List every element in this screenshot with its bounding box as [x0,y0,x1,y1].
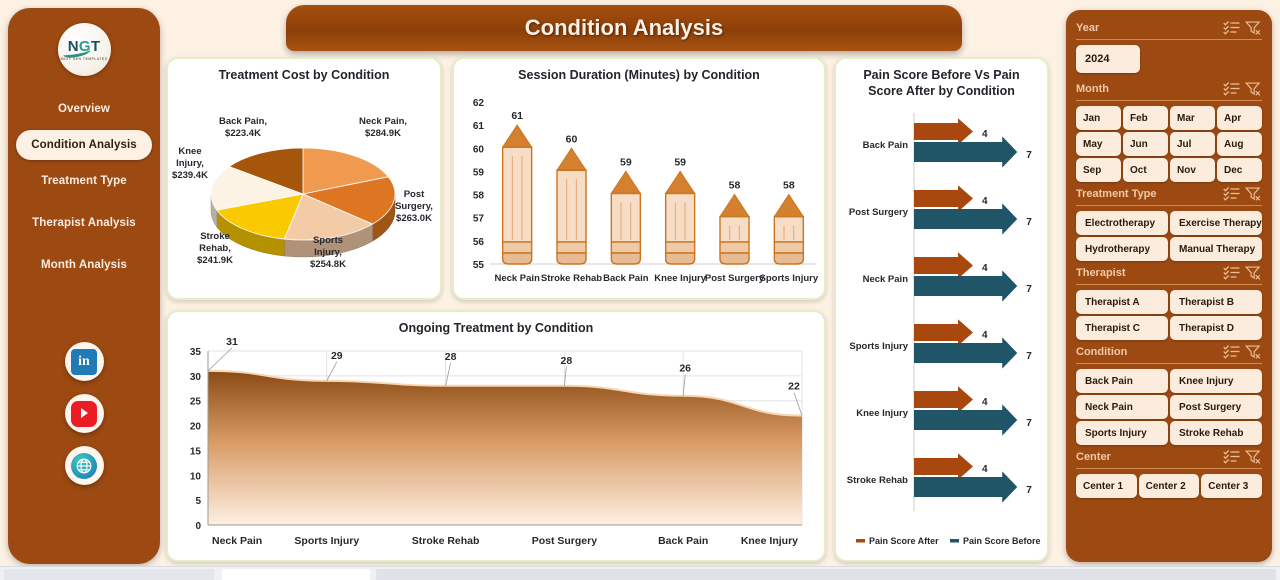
area-data-label: 28 [561,355,573,367]
filter-chip-jun[interactable]: Jun [1123,132,1168,156]
multi-select-icon[interactable] [1223,344,1241,359]
pencil-bar[interactable] [557,148,586,264]
taskbar-segment [4,569,214,580]
x-tick-label: Knee Injury [654,273,706,284]
session-duration-bar-chart: 555657585960616261Neck Pain60Stroke Reha… [454,82,824,298]
pencil-bar[interactable] [666,171,695,264]
youtube-link[interactable] [65,394,104,433]
clear-filter-icon[interactable] [1244,81,1262,96]
pie-data-label: Surgery, [395,201,433,212]
website-icon [71,453,97,479]
pain-before-value: 7 [1026,485,1032,496]
y-tick-label: 35 [190,347,202,358]
clear-filter-icon[interactable] [1244,20,1262,35]
treatment-cost-title: Treatment Cost by Condition [168,59,440,82]
filter-group-title: Month [1076,83,1220,95]
x-tick-label: Neck Pain [212,535,262,547]
filter-group-center: Center Center 1Center 2Center 3 [1076,447,1262,498]
y-tick-label: 10 [190,471,202,482]
legend-swatch [950,539,959,543]
pie-data-label: $254.8K [310,259,346,270]
pain-score-card: Pain Score Before Vs Pain Score After by… [834,57,1049,562]
pain-score-row [914,185,1017,234]
sidebar-item-label: Therapist Analysis [32,217,136,229]
pie-data-label: Injury, [314,247,342,258]
taskbar-segment [376,569,1276,580]
multi-select-icon[interactable] [1223,81,1241,96]
os-taskbar [0,566,1280,580]
category-label: Stroke Rehab [847,475,908,486]
pain-after-value: 4 [982,330,988,341]
linkedin-icon: in [71,349,97,375]
pain-score-row [914,118,1017,167]
chart-label: 57 [473,214,485,225]
bar-data-label: 60 [566,133,578,145]
pain-before-arrow[interactable] [914,472,1017,503]
divider [1076,468,1262,469]
filter-chip-sports-injury[interactable]: Sports Injury [1076,421,1168,445]
pie-data-label: $239.4K [172,170,208,181]
divider [1076,205,1262,206]
pie-data-label: $263.0K [396,213,432,224]
x-tick-label: Back Pain [658,535,708,547]
sidebar-item-condition-analysis[interactable]: Condition Analysis [16,130,152,160]
filter-group-therapist: Therapist Therapist ATherapist BTherapis… [1076,263,1262,340]
pencil-bar[interactable] [503,125,532,264]
divider [1076,100,1262,101]
y-tick-label: 15 [190,446,202,457]
filter-group-header: Month [1076,79,1262,98]
category-label: Back Pain [863,140,909,151]
pain-score-row [914,386,1017,435]
pie-data-label: Neck Pain, [359,116,407,127]
filter-chip-therapist-d[interactable]: Therapist D [1170,316,1262,340]
multi-select-icon[interactable] [1223,265,1241,280]
filter-group-header: Condition [1076,342,1262,361]
pain-after-arrow[interactable] [914,386,973,413]
ongoing-treatment-card: Ongoing Treatment by Condition 051015202… [166,310,826,562]
filter-group-condition: Condition Back PainKnee InjuryNeck PainP… [1076,342,1262,445]
filter-group-title: Center [1076,451,1220,463]
filter-group-header: Treatment Type [1076,184,1262,203]
pencil-bar[interactable] [720,195,749,264]
sidebar-item-treatment-type[interactable]: Treatment Type [8,160,160,202]
filter-group-treatment-type: Treatment Type ElectrotherapyExercise Th… [1076,184,1262,261]
y-tick-label: 25 [190,397,202,408]
filter-chip-sep[interactable]: Sep [1076,158,1121,182]
linkedin-link[interactable]: in [65,342,104,381]
chart-label: 61 [473,121,485,132]
pain-before-value: 7 [1026,217,1032,228]
pain-before-value: 7 [1026,150,1032,161]
pain-after-arrow[interactable] [914,118,973,145]
area-data-label: 29 [331,350,343,362]
filter-chip-nov[interactable]: Nov [1170,158,1215,182]
filter-chip-center-2[interactable]: Center 2 [1139,474,1200,498]
x-tick-label: Sports Injury [294,535,359,547]
filter-chip-jul[interactable]: Jul [1170,132,1215,156]
page-title: Condition Analysis [525,15,723,41]
y-tick-label: 30 [190,372,202,383]
filter-group-title: Condition [1076,346,1220,358]
pain-after-arrow[interactable] [914,185,973,212]
filter-chip-stroke-rehab[interactable]: Stroke Rehab [1170,421,1262,445]
filter-chip-therapist-a[interactable]: Therapist A [1076,290,1168,314]
legend-label: Pain Score Before [963,536,1041,546]
filter-chip-exercise-therapy[interactable]: Exercise Therapy [1170,211,1262,235]
divider [1076,363,1262,364]
bar-data-label: 59 [620,156,632,168]
leader-line [446,363,451,386]
filter-chip-oct[interactable]: Oct [1123,158,1168,182]
x-tick-label: Back Pain [603,273,649,284]
youtube-icon [71,401,97,427]
pain-before-value: 7 [1026,284,1032,295]
pie-data-label: Post [404,189,425,200]
bar-data-label: 58 [729,180,741,192]
multi-select-icon[interactable] [1223,186,1241,201]
x-tick-label: Stroke Rehab [412,535,480,547]
y-tick-label: 20 [190,422,202,433]
filter-panel: Year 2024Month JanFebMarAprMayJunJulAugS… [1066,10,1272,562]
pain-before-value: 7 [1026,418,1032,429]
category-label: Sports Injury [849,341,908,352]
sidebar-item-month-analysis[interactable]: Month Analysis [8,244,160,286]
sidebar-item-label: Overview [58,103,110,115]
pencil-bar[interactable] [774,195,803,264]
pain-score-arrow-chart: 47Back Pain47Post Surgery47Neck Pain47Sp… [836,99,1047,554]
pain-after-value: 4 [982,196,988,207]
session-duration-card: Session Duration (Minutes) by Condition … [452,57,826,300]
y-tick-label: 5 [195,496,201,507]
category-label: Post Surgery [849,207,909,218]
pain-before-value: 7 [1026,351,1032,362]
clear-filter-icon[interactable] [1244,186,1262,201]
filter-options: Center 1Center 2Center 3 [1076,474,1262,498]
filter-chip-may[interactable]: May [1076,132,1121,156]
category-label: Knee Injury [856,408,908,419]
clear-filter-icon[interactable] [1244,344,1262,359]
pain-before-arrow[interactable] [914,271,1017,302]
pie-data-label: $241.9K [197,255,233,266]
filter-chip-dec[interactable]: Dec [1217,158,1262,182]
pie-data-label: $284.9K [365,128,401,139]
bar-data-label: 58 [783,180,795,192]
area-data-label: 31 [226,336,238,348]
filter-chip-manual-therapy[interactable]: Manual Therapy [1170,237,1262,261]
divider [1076,284,1262,285]
brand-logo: NGT NEXT GEN TEMPLATES [58,23,111,76]
filter-chip-hydrotherapy[interactable]: Hydrotherapy [1076,237,1168,261]
pie-data-label: Rehab, [199,243,231,254]
pain-score-row [914,319,1017,368]
pain-before-arrow[interactable] [914,405,1017,436]
filter-chip-feb[interactable]: Feb [1123,106,1168,130]
divider [1076,39,1262,40]
pain-score-title: Pain Score Before Vs Pain Score After by… [836,59,1047,99]
chart-label: 59 [473,167,485,178]
pain-after-value: 4 [982,129,988,140]
bar-data-label: 59 [674,156,686,168]
filter-options: ElectrotherapyExercise TherapyHydrothera… [1076,211,1262,261]
chart-label: 62 [473,98,485,109]
x-tick-label: Sports Injury [760,273,819,284]
logo-text: NGT [68,39,101,54]
chart-label: 55 [473,260,485,271]
sidebar-item-label: Condition Analysis [31,139,137,151]
pencil-bar[interactable] [611,171,640,264]
dashboard-root: NGT NEXT GEN TEMPLATES Overview Conditio… [0,0,1280,580]
area-data-label: 28 [445,351,457,363]
pain-after-arrow[interactable] [914,453,973,480]
sidebar: NGT NEXT GEN TEMPLATES Overview Conditio… [8,8,160,564]
website-link[interactable] [65,446,104,485]
filter-chip-post-surgery[interactable]: Post Surgery [1170,395,1262,419]
treatment-cost-card: Treatment Cost by Condition Neck Pain,$2… [166,57,442,300]
y-tick-label: 0 [195,521,201,532]
ongoing-treatment-area-chart: 0510152025303531Neck Pain29Sports Injury… [168,335,824,557]
filter-chip-jan[interactable]: Jan [1076,106,1121,130]
filter-chip-aug[interactable]: Aug [1217,132,1262,156]
pie-data-label: $223.4K [225,128,261,139]
x-tick-label: Post Surgery [705,273,765,284]
pain-before-arrow[interactable] [914,338,1017,369]
filter-chip-therapist-b[interactable]: Therapist B [1170,290,1262,314]
chart-label: 56 [473,237,485,248]
filter-chip-knee-injury[interactable]: Knee Injury [1170,369,1262,393]
treatment-cost-pie-chart: Neck Pain,$284.9KPostSurgery,$263.0KSpor… [168,82,440,294]
filter-group-year: Year 2024 [1076,18,1262,77]
area-data-label: 22 [788,381,800,393]
pie-data-label: Stroke [200,231,230,242]
filter-group-title: Treatment Type [1076,188,1220,200]
filter-chip-mar[interactable]: Mar [1170,106,1215,130]
filter-options: 2024 [1076,45,1262,77]
chart-label: 60 [473,144,485,155]
session-duration-title: Session Duration (Minutes) by Condition [454,59,824,82]
area-data-label: 26 [679,363,691,375]
filter-options: JanFebMarAprMayJunJulAugSepOctNovDec [1076,106,1262,182]
pain-after-value: 4 [982,397,988,408]
chart-label: 58 [473,191,485,202]
pain-after-arrow[interactable] [914,319,973,346]
legend-swatch [856,539,865,543]
sidebar-item-overview[interactable]: Overview [8,88,160,130]
sidebar-item-label: Month Analysis [41,259,127,271]
pain-score-row [914,453,1017,502]
page-header: Condition Analysis [286,5,962,51]
leader-line [327,362,337,381]
filter-group-title: Therapist [1076,267,1220,279]
filter-chip-therapist-c[interactable]: Therapist C [1076,316,1168,340]
filter-options: Back PainKnee InjuryNeck PainPost Surger… [1076,369,1262,445]
filter-group-month: Month JanFebMarAprMayJunJulAugSepOctNovD… [1076,79,1262,182]
filter-group-header: Therapist [1076,263,1262,282]
filter-group-header: Center [1076,447,1262,466]
clear-filter-icon[interactable] [1244,265,1262,280]
filter-group-title: Year [1076,22,1220,34]
leader-line [794,393,802,416]
social-links: in [65,342,104,485]
pain-after-arrow[interactable] [914,252,973,279]
pie-data-label: Back Pain, [219,116,267,127]
pie-data-label: Sports [313,235,343,246]
taskbar-segment [222,569,370,580]
x-tick-label: Knee Injury [741,535,798,547]
ongoing-treatment-title: Ongoing Treatment by Condition [168,312,824,335]
filter-chip-apr[interactable]: Apr [1217,106,1262,130]
legend-label: Pain Score After [869,536,939,546]
pie-data-label: Injury, [176,158,204,169]
area-fill [208,371,802,525]
pain-after-value: 4 [982,263,988,274]
pie-data-label: Knee [178,146,201,157]
category-label: Neck Pain [863,274,909,285]
filter-chip-center-1[interactable]: Center 1 [1076,474,1137,498]
filter-chip-center-3[interactable]: Center 3 [1201,474,1262,498]
clear-filter-icon[interactable] [1244,449,1262,464]
x-tick-label: Stroke Rehab [541,273,602,284]
bar-data-label: 61 [511,110,523,122]
pain-score-row [914,252,1017,301]
pain-after-value: 4 [982,464,988,475]
sidebar-nav: Overview Condition Analysis Treatment Ty… [8,88,160,286]
x-tick-label: Post Surgery [532,535,598,547]
filter-options: Therapist ATherapist BTherapist CTherapi… [1076,290,1262,340]
filter-chip-back-pain[interactable]: Back Pain [1076,369,1168,393]
filter-chip-electrotherapy[interactable]: Electrotherapy [1076,211,1168,235]
x-tick-label: Neck Pain [494,273,540,284]
multi-select-icon[interactable] [1223,449,1241,464]
sidebar-item-label: Treatment Type [41,175,127,187]
multi-select-icon[interactable] [1223,20,1241,35]
sidebar-item-therapist-analysis[interactable]: Therapist Analysis [8,202,160,244]
filter-chip-neck-pain[interactable]: Neck Pain [1076,395,1168,419]
pain-before-arrow[interactable] [914,204,1017,235]
filter-group-header: Year [1076,18,1262,37]
filter-chip-2024[interactable]: 2024 [1076,45,1140,73]
pain-before-arrow[interactable] [914,137,1017,168]
